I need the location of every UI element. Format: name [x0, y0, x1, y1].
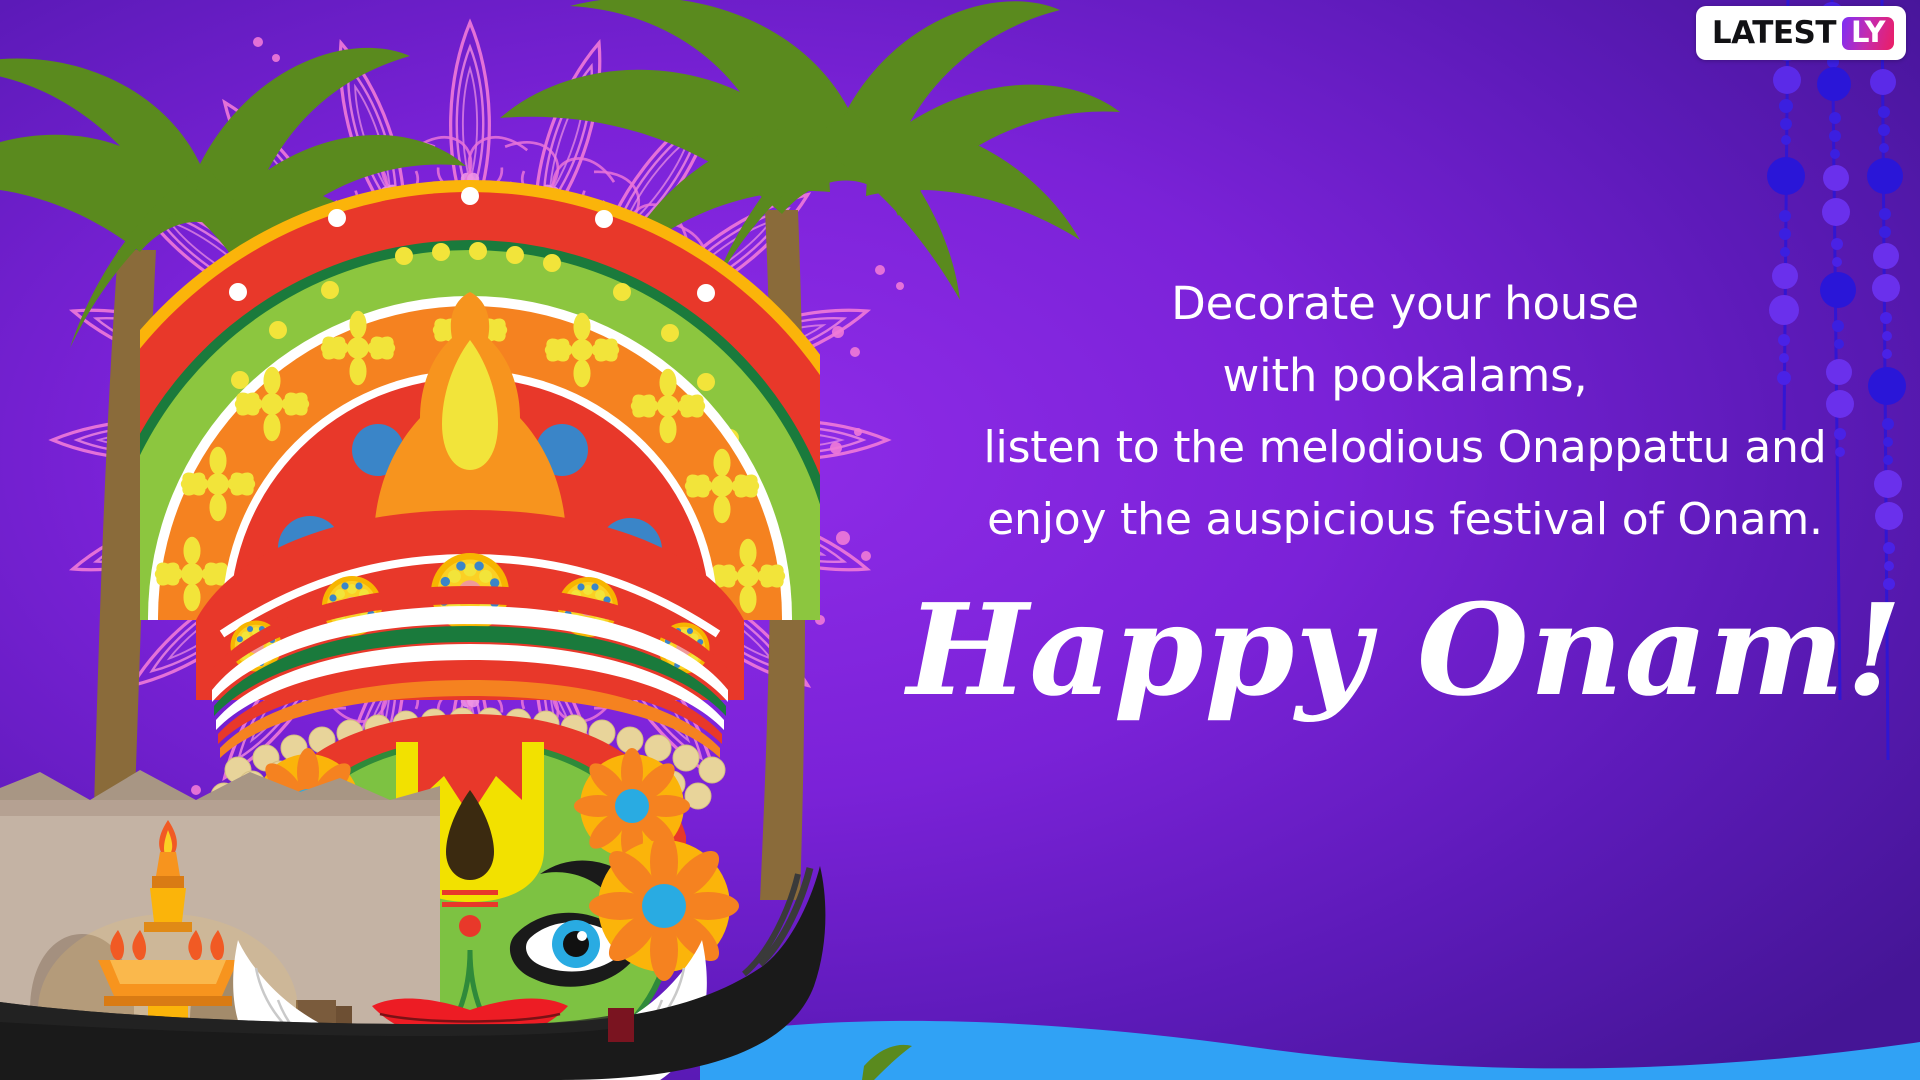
message-line-4: enjoy the auspicious festival of Onam.: [900, 484, 1910, 556]
greeting-message: Decorate your house with pookalams, list…: [900, 268, 1910, 556]
message-line-3: listen to the melodious Onappattu and: [900, 412, 1910, 484]
happy-onam-heading: Happy Onam!: [890, 580, 1920, 720]
latestly-logo[interactable]: LATEST LY: [1696, 6, 1906, 60]
onam-greeting-card: Decorate your house with pookalams, list…: [0, 0, 1920, 1080]
message-line-2: with pookalams,: [900, 340, 1910, 412]
message-line-1: Decorate your house: [900, 268, 1910, 340]
logo-text-accent: LY: [1842, 17, 1894, 50]
logo-text-primary: LATEST: [1712, 15, 1836, 51]
